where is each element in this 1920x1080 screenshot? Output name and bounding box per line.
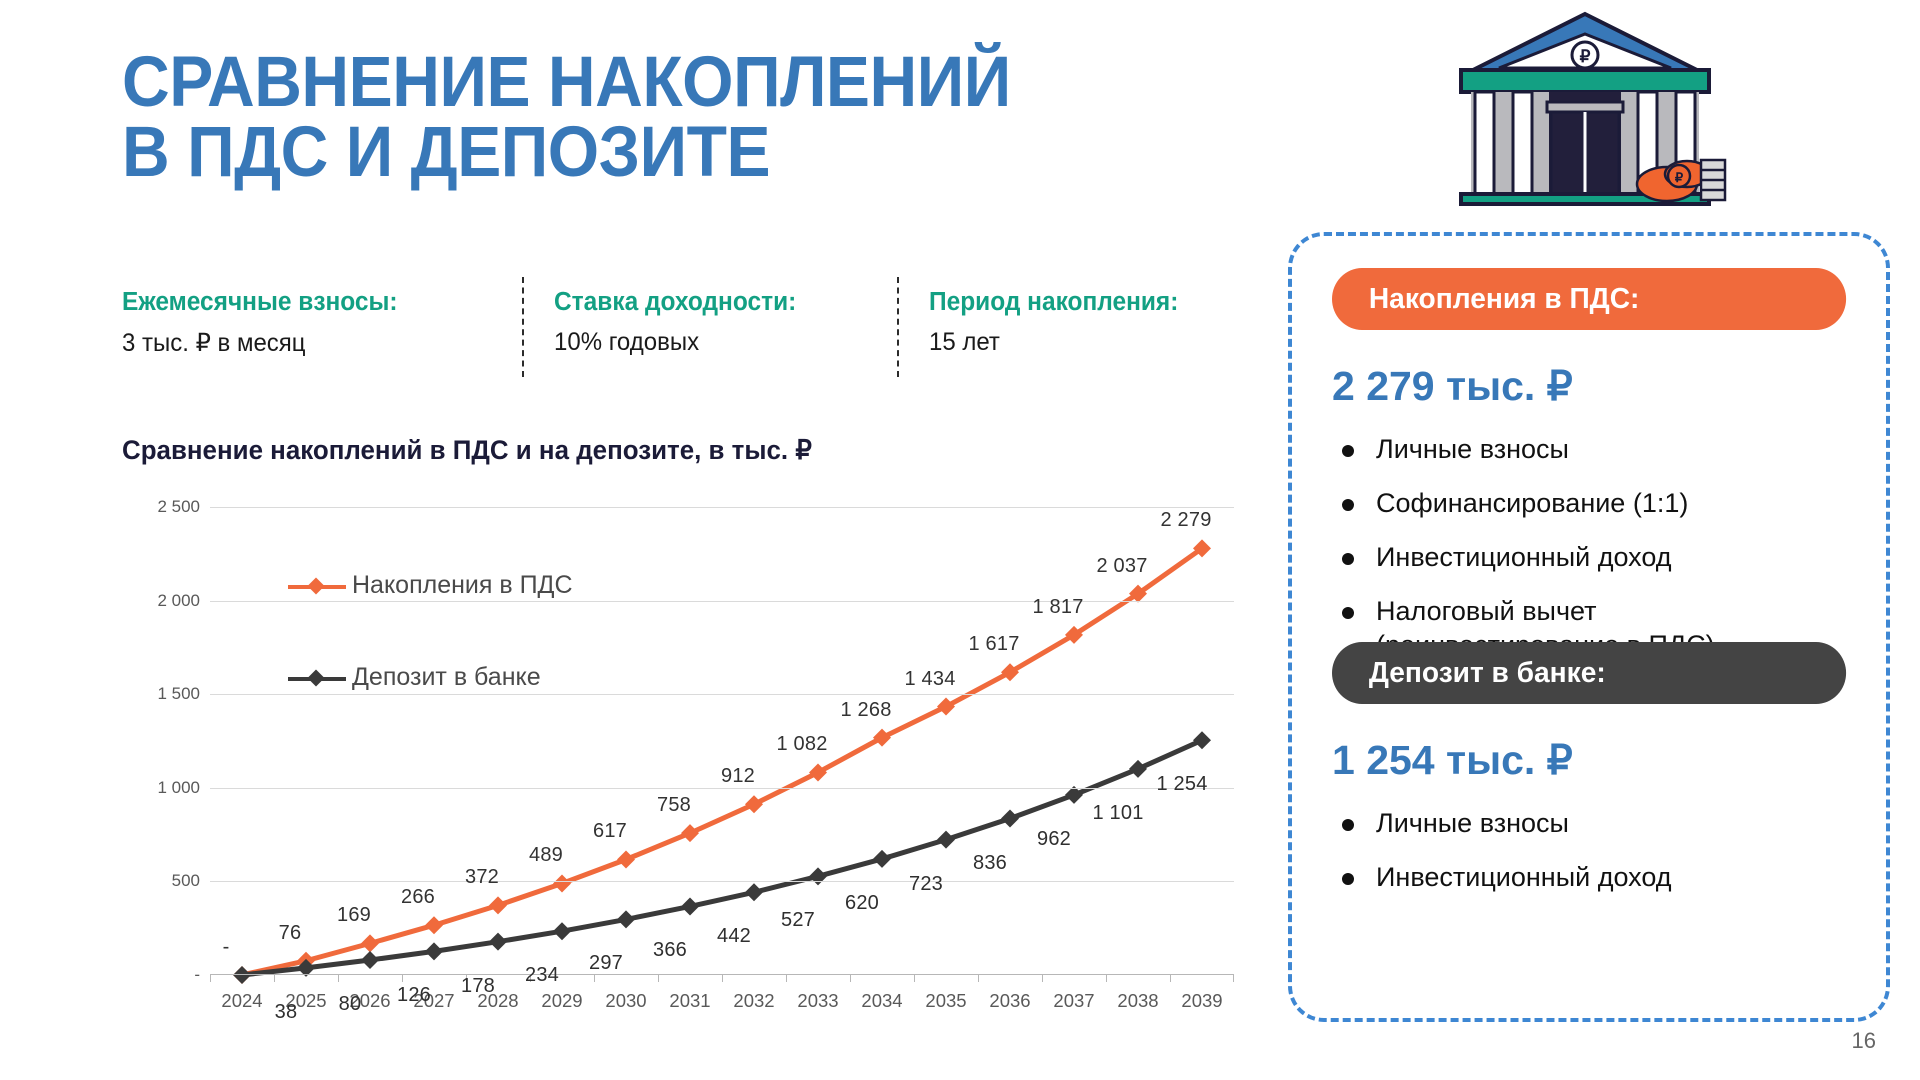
y-axis-tick-label: - (120, 965, 200, 985)
x-axis-tick (1170, 975, 1171, 982)
data-point-label: 758 (657, 794, 691, 817)
data-point-label: 2 279 (1160, 509, 1211, 532)
y-axis-tick-label: 2 500 (120, 497, 200, 517)
x-axis-tick (850, 975, 851, 982)
data-point-label: 1 101 (1092, 802, 1143, 825)
chart-legend-item-1[interactable]: Депозит в банке (288, 663, 541, 692)
series-marker (1001, 810, 1019, 828)
series-marker (617, 850, 635, 868)
x-axis-tick (658, 975, 659, 982)
x-axis-tick-label: 2034 (861, 990, 902, 1012)
deposit-benefit-item: Инвестиционный доход (1342, 860, 1872, 894)
data-point-label: 234 (525, 964, 559, 987)
x-axis-tick-label: 2037 (1053, 990, 1094, 1012)
deposit-benefits-list: Личные взносыИнвестиционный доход (1342, 806, 1872, 914)
page-number: 16 (1852, 1028, 1876, 1054)
page-title: СРАВНЕНИЕ НАКОПЛЕНИЙ В ПДС И ДЕПОЗИТЕ (122, 48, 1173, 187)
svg-text:₽: ₽ (1675, 170, 1684, 185)
bullet-icon (1342, 819, 1354, 831)
y-axis-tick-label: 500 (120, 871, 200, 891)
savings-comparison-chart: 2024202520262027202820292030203120322033… (122, 495, 1242, 1025)
series-marker (489, 933, 507, 951)
x-axis-tick-label: 2029 (541, 990, 582, 1012)
series-marker (681, 824, 699, 842)
series-marker (553, 874, 571, 892)
chart-legend-item-0[interactable]: Накопления в ПДС (288, 571, 573, 600)
bullet-icon (1342, 445, 1354, 457)
amount-pds: 2 279 тыс. ₽ (1332, 362, 1573, 410)
chart-gridline (210, 881, 1234, 882)
parameter-value: 3 тыс. ₽ в месяц (122, 328, 477, 358)
x-axis-tick-label: 2032 (733, 990, 774, 1012)
legend-label: Депозит в банке (352, 663, 541, 692)
x-axis-tick-label: 2039 (1181, 990, 1222, 1012)
data-point-label: 1 817 (1032, 596, 1083, 619)
data-point-label: 366 (653, 939, 687, 962)
series-marker (873, 850, 891, 868)
pds-benefit-item-label: Софинансирование (1:1) (1376, 486, 1688, 520)
parameter-divider (522, 277, 524, 377)
x-axis-tick (594, 975, 595, 982)
series-marker (233, 966, 251, 984)
x-axis-tick-label: 2033 (797, 990, 838, 1012)
parameters-strip: Ежемесячные взносы:3 тыс. ₽ в месяцСтавк… (122, 288, 1242, 380)
data-point-label: 723 (909, 873, 943, 896)
series-marker (425, 916, 443, 934)
chart-title: Сравнение накоплений в ПДС и на депозите… (122, 435, 812, 466)
parameter-divider (897, 277, 899, 377)
data-point-label: 126 (397, 984, 431, 1007)
data-point-label: 372 (465, 866, 499, 889)
x-axis-tick (1233, 975, 1234, 982)
bullet-icon (1342, 873, 1354, 885)
bullet-icon (1342, 553, 1354, 565)
legend-marker-icon (288, 577, 346, 595)
data-point-label: 489 (529, 844, 563, 867)
bullet-icon (1342, 607, 1354, 619)
x-axis-tick-label: 2031 (669, 990, 710, 1012)
data-point-label: 266 (401, 886, 435, 909)
series-marker (809, 867, 827, 885)
badge-pds-savings: Накопления в ПДС: (1332, 268, 1846, 330)
x-axis-tick (978, 975, 979, 982)
data-point-label: 620 (845, 892, 879, 915)
data-point-label: 912 (721, 765, 755, 788)
x-axis-tick-label: 2024 (221, 990, 262, 1012)
data-point-label: 1 434 (904, 668, 955, 691)
data-point-label: 76 (279, 922, 302, 945)
parameter-cell-0: Ежемесячные взносы:3 тыс. ₽ в месяц (122, 288, 522, 358)
x-axis-tick-label: 2030 (605, 990, 646, 1012)
x-axis-tick (1106, 975, 1107, 982)
x-axis-tick (1042, 975, 1043, 982)
parameter-label: Период накопления: (929, 288, 1196, 317)
x-axis-tick (722, 975, 723, 982)
data-point-label: 442 (717, 925, 751, 948)
data-point-label: - (223, 936, 230, 959)
amount-deposit: 1 254 тыс. ₽ (1332, 736, 1573, 784)
page-title-line-2: В ПДС И ДЕПОЗИТЕ (122, 118, 1173, 188)
badge-bank-deposit: Депозит в банке: (1332, 642, 1846, 704)
series-marker (425, 942, 443, 960)
right-summary-column: ₽ ₽ Накоплен (1270, 0, 1920, 1080)
x-axis-tick-label: 2038 (1117, 990, 1158, 1012)
x-axis-tick (402, 975, 403, 982)
parameter-cell-1: Ставка доходности:10% годовых (522, 288, 897, 357)
data-point-label: 169 (337, 904, 371, 927)
data-point-label: 178 (461, 975, 495, 998)
y-axis-tick-label: 2 000 (120, 591, 200, 611)
series-marker (489, 896, 507, 914)
series-marker (681, 897, 699, 915)
x-axis-tick (338, 975, 339, 982)
data-point-label: 962 (1037, 828, 1071, 851)
x-axis-tick (210, 975, 211, 982)
x-axis-tick (914, 975, 915, 982)
series-marker (553, 922, 571, 940)
x-axis-tick-label: 2035 (925, 990, 966, 1012)
parameter-value: 15 лет (929, 328, 1196, 357)
pds-benefit-item: Софинансирование (1:1) (1342, 486, 1872, 520)
y-axis-tick-label: 1 000 (120, 778, 200, 798)
x-axis-tick (274, 975, 275, 982)
data-point-label: 836 (973, 852, 1007, 875)
y-axis-tick-label: 1 500 (120, 684, 200, 704)
summary-info-box: Накопления в ПДС: 2 279 тыс. ₽ Личные вз… (1288, 232, 1890, 1022)
parameter-value: 10% годовых (554, 328, 854, 357)
data-point-label: 2 037 (1096, 555, 1147, 578)
data-point-label: 527 (781, 909, 815, 932)
series-marker (937, 698, 955, 716)
data-point-label: 617 (593, 820, 627, 843)
series-marker (361, 951, 379, 969)
data-point-label: 1 268 (840, 699, 891, 722)
pds-benefit-item-label: Инвестиционный доход (1376, 540, 1672, 574)
series-marker (809, 763, 827, 781)
parameter-label: Ежемесячные взносы: (122, 288, 477, 317)
series-marker (745, 883, 763, 901)
pds-benefit-item: Инвестиционный доход (1342, 540, 1872, 574)
page-title-line-1: СРАВНЕНИЕ НАКОПЛЕНИЙ (122, 48, 1173, 118)
data-point-label: 1 617 (968, 633, 1019, 656)
x-axis-tick-label: 2036 (989, 990, 1030, 1012)
series-marker (1193, 731, 1211, 749)
legend-marker-icon (288, 669, 346, 687)
data-point-label: 1 254 (1156, 773, 1207, 796)
series-marker (617, 910, 635, 928)
chart-gridline (210, 507, 1234, 508)
data-point-label: 1 082 (776, 733, 827, 756)
svg-text:₽: ₽ (1580, 47, 1591, 66)
pds-benefit-item: Личные взносы (1342, 432, 1872, 466)
bullet-icon (1342, 499, 1354, 511)
data-point-label: 38 (275, 1001, 298, 1024)
series-marker (937, 831, 955, 849)
deposit-benefit-item-label: Личные взносы (1376, 806, 1569, 840)
series-marker (873, 729, 891, 747)
chart-gridline (210, 694, 1234, 695)
parameter-label: Ставка доходности: (554, 288, 854, 317)
x-axis-tick (786, 975, 787, 982)
pds-benefit-item-label: Личные взносы (1376, 432, 1569, 466)
left-content-column: СРАВНЕНИЕ НАКОПЛЕНИЙ В ПДС И ДЕПОЗИТЕ Еж… (0, 0, 1270, 1080)
series-marker (1129, 760, 1147, 778)
deposit-benefit-item-label: Инвестиционный доход (1376, 860, 1672, 894)
bank-building-icon: ₽ ₽ (1435, 8, 1735, 208)
parameter-cell-2: Период накопления:15 лет (897, 288, 1237, 357)
data-point-label: 297 (589, 952, 623, 975)
legend-label: Накопления в ПДС (352, 571, 573, 600)
data-point-label: 80 (339, 993, 362, 1016)
chart-plot-area: 2024202520262027202820292030203120322033… (210, 507, 1234, 975)
deposit-benefit-item: Личные взносы (1342, 806, 1872, 840)
series-marker (745, 795, 763, 813)
series-marker (361, 934, 379, 952)
